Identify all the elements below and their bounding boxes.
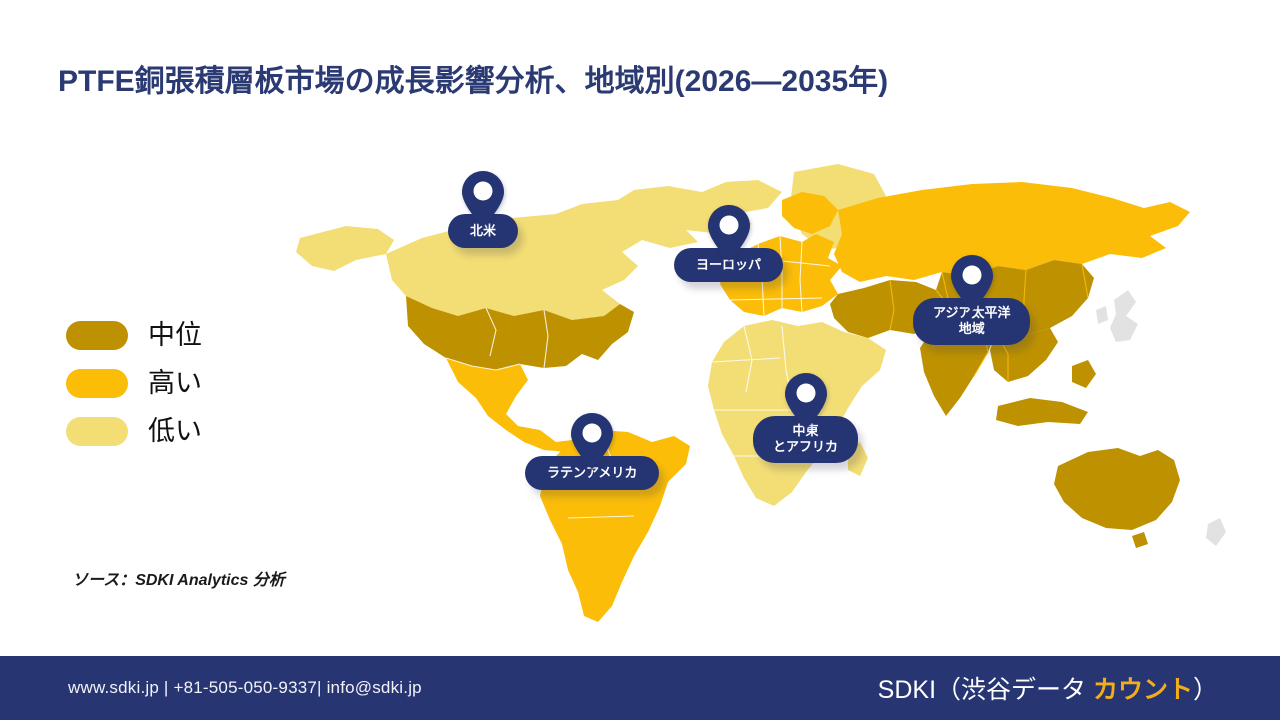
region-philippines — [1072, 360, 1096, 388]
page-title: PTFE銅張積層板市場の成長影響分析、地域別(2026—2035年) — [58, 56, 1228, 100]
region-alaska — [296, 226, 394, 271]
map-pin-asia-pacific[interactable]: アジア太平洋 地域 — [913, 254, 1030, 345]
region-indonesia — [996, 398, 1088, 426]
footer-brand: SDKI（渋谷データ カウント） — [878, 670, 1218, 706]
legend-label-medium: 中位 — [148, 322, 202, 349]
legend-swatch-low — [66, 417, 128, 446]
region-japan — [1110, 290, 1138, 342]
region-new-zealand — [1206, 518, 1226, 546]
footer-brand-accent: カウント — [1093, 676, 1193, 704]
legend-item-high: 高い — [66, 360, 296, 406]
map-pin-europe[interactable]: ヨーロッパ — [674, 204, 783, 282]
legend: 中位 高い 低い — [66, 312, 296, 456]
infographic-slide: PTFE銅張積層板市場の成長影響分析、地域別(2026—2035年) 中位 高い… — [0, 0, 1280, 720]
legend-item-medium: 中位 — [66, 312, 296, 358]
source-note: ソース：SDKI Analytics 分析 — [72, 566, 285, 590]
footer-brand-suffix: ） — [1193, 676, 1218, 704]
legend-label-high: 高い — [148, 370, 202, 397]
location-pin-icon — [707, 204, 751, 262]
region-tasmania — [1132, 532, 1148, 548]
location-pin-icon — [570, 412, 614, 470]
region-australia — [1054, 448, 1180, 530]
map-pin-latin-america[interactable]: ラテンアメリカ — [525, 412, 659, 490]
map-pin-north-america[interactable]: 北米 — [448, 170, 518, 248]
location-pin-icon — [784, 372, 828, 430]
legend-swatch-high — [66, 369, 128, 398]
legend-item-low: 低い — [66, 408, 296, 454]
legend-swatch-medium — [66, 321, 128, 350]
map-pin-middle-east-africa[interactable]: 中東 とアフリカ — [753, 372, 858, 463]
region-korea — [1096, 306, 1108, 324]
footer-bar: www.sdki.jp | +81-505-050-9337| info@sdk… — [0, 656, 1280, 720]
footer-brand-prefix: SDKI（渋谷データ — [878, 676, 1093, 704]
location-pin-icon — [461, 170, 505, 228]
footer-contact[interactable]: www.sdki.jp | +81-505-050-9337| info@sdk… — [68, 678, 422, 698]
legend-label-low: 低い — [148, 418, 202, 445]
world-map: 北米 ヨーロッパ アジア太平洋 地域 ラテンアメリカ — [282, 130, 1267, 630]
location-pin-icon — [950, 254, 994, 312]
